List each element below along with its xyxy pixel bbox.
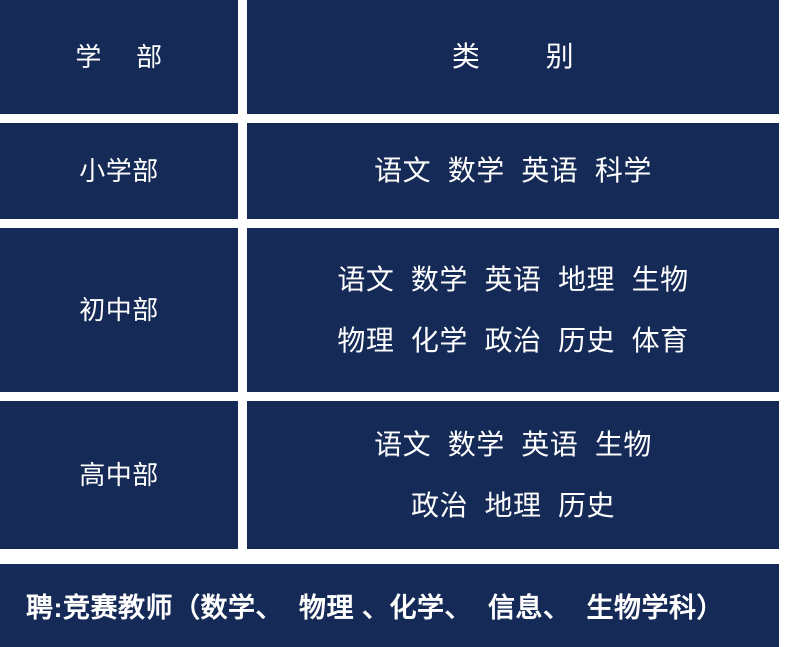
footer-note-competition-teachers: 聘:竞赛教师（数学、 物理 、化学、 信息、 生物学科）: [0, 564, 779, 647]
header-cell-category: 类 别: [247, 0, 779, 114]
category-line: 语文 数学 英语 地理 生物: [337, 258, 688, 301]
cell-department-middle: 初中部: [0, 228, 238, 392]
table-header-row: 学 部 类 别: [0, 0, 779, 114]
cell-category-primary: 语文 数学 英语 科学: [247, 123, 779, 219]
footer-spacer: [0, 549, 785, 564]
cell-department-primary: 小学部: [0, 123, 238, 219]
recruitment-subject-table: 学 部 类 别 小学部 语文 数学 英语 科学 初中部 语文 数学 英语 地理 …: [0, 0, 785, 646]
category-line: 政治 地理 历史: [411, 484, 615, 527]
category-lines-high: 语文 数学 英语 生物 政治 地理 历史: [374, 423, 652, 528]
category-line: 物理 化学 政治 历史 体育: [337, 319, 688, 362]
cell-department-high: 高中部: [0, 401, 238, 549]
table-row-middle-school: 初中部 语文 数学 英语 地理 生物 物理 化学 政治 历史 体育: [0, 228, 779, 392]
table-row-high-school: 高中部 语文 数学 英语 生物 政治 地理 历史: [0, 401, 779, 549]
table-row-primary-school: 小学部 语文 数学 英语 科学: [0, 123, 779, 219]
department-category-table: 学 部 类 别 小学部 语文 数学 英语 科学 初中部 语文 数学 英语 地理 …: [0, 0, 779, 549]
category-line: 语文 数学 英语 科学: [374, 149, 652, 192]
cell-category-high: 语文 数学 英语 生物 政治 地理 历史: [247, 401, 779, 549]
category-lines-primary: 语文 数学 英语 科学: [374, 149, 652, 192]
category-line: 语文 数学 英语 生物: [374, 423, 652, 466]
category-lines-middle: 语文 数学 英语 地理 生物 物理 化学 政治 历史 体育: [337, 258, 688, 363]
cell-category-middle: 语文 数学 英语 地理 生物 物理 化学 政治 历史 体育: [247, 228, 779, 392]
header-cell-department: 学 部: [0, 0, 238, 114]
